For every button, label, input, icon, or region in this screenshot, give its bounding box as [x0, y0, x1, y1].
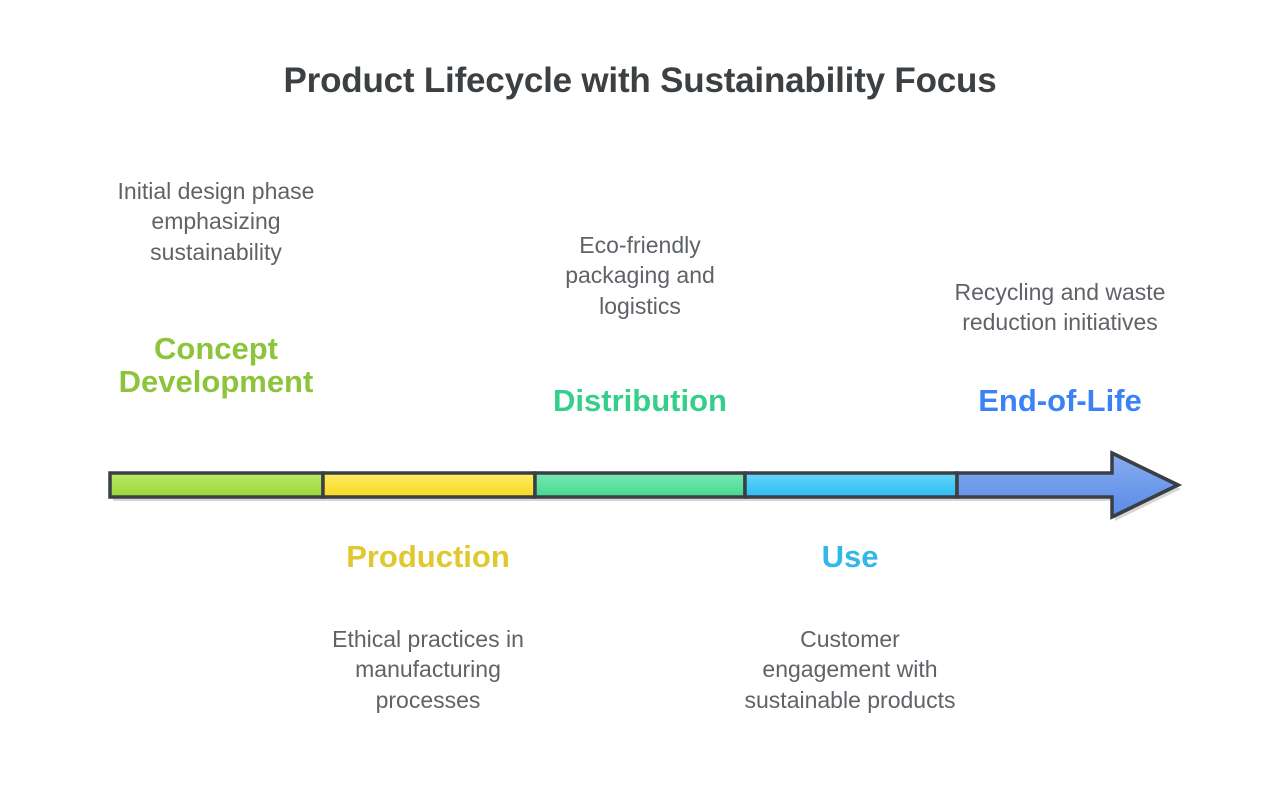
- lifecycle-arrow: [100, 445, 1185, 525]
- stage-label-production: Production: [288, 540, 568, 573]
- stage-label-distribution: Distribution: [500, 384, 780, 417]
- arrow-segment-endoflife: [957, 453, 1178, 517]
- stage-label-concept: Concept Development: [56, 332, 376, 399]
- arrow-segment-production: [323, 473, 535, 497]
- stage-description-distribution: Eco-friendly packaging and logistics: [500, 230, 780, 321]
- stage-description-use: Customer engagement with sustainable pro…: [680, 624, 1020, 715]
- stage-description-endoflife: Recycling and waste reduction initiative…: [890, 277, 1230, 338]
- page-title: Product Lifecycle with Sustainability Fo…: [0, 62, 1280, 101]
- arrow-segment-concept: [110, 473, 323, 497]
- arrow-segment-distribution: [535, 473, 745, 497]
- stage-label-endoflife: End-of-Life: [890, 384, 1230, 417]
- stage-label-use: Use: [730, 540, 970, 573]
- stage-description-concept: Initial design phase emphasizing sustain…: [56, 176, 376, 267]
- diagram-canvas: Product Lifecycle with Sustainability Fo…: [0, 0, 1280, 803]
- stage-description-production: Ethical practices in manufacturing proce…: [278, 624, 578, 715]
- arrow-segment-use: [745, 473, 957, 497]
